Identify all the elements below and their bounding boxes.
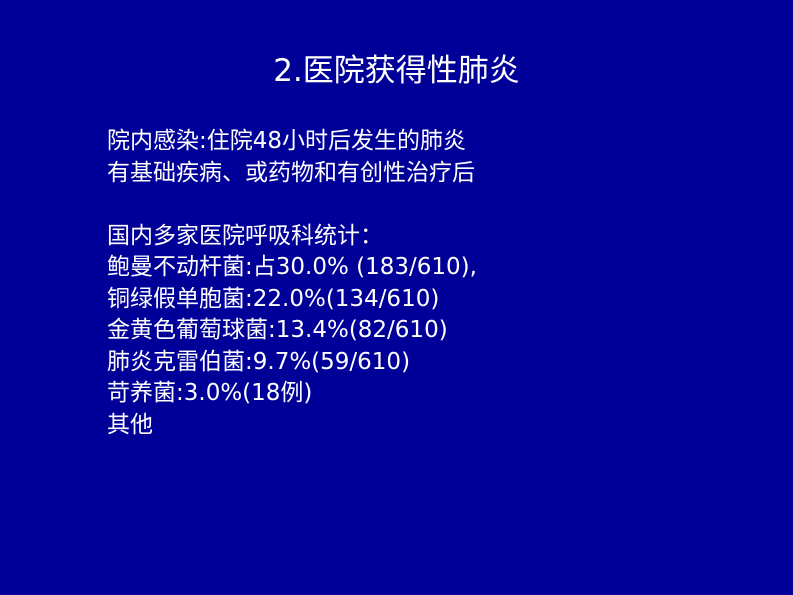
body-line-pathogen-acinetobacter: 鲍曼不动杆菌:占30.0% (183/610),	[107, 252, 707, 284]
body-line-pathogen-other: 其他	[107, 410, 707, 442]
body-line-pathogen-fastidious: 苛养菌:3.0%(18例)	[107, 378, 707, 410]
slide-title: 2.医院获得性肺炎	[0, 52, 793, 90]
body-line-statistics-heading: 国内多家医院呼吸科统计：	[107, 221, 707, 253]
body-line-pathogen-staphylococcus: 金黄色葡萄球菌:13.4%(82/610)	[107, 315, 707, 347]
paragraph-statistics: 国内多家医院呼吸科统计： 鲍曼不动杆菌:占30.0% (183/610), 铜绿…	[107, 221, 707, 442]
slide-body: 院内感染:住院48小时后发生的肺炎 有基础疾病、或药物和有创性治疗后 国内多家医…	[107, 126, 707, 441]
body-line-definition-1: 院内感染:住院48小时后发生的肺炎	[107, 126, 707, 158]
body-line-definition-2: 有基础疾病、或药物和有创性治疗后	[107, 158, 707, 190]
blank-line-spacer	[107, 189, 707, 221]
body-line-pathogen-pseudomonas: 铜绿假单胞菌:22.0%(134/610)	[107, 284, 707, 316]
paragraph-definition: 院内感染:住院48小时后发生的肺炎 有基础疾病、或药物和有创性治疗后	[107, 126, 707, 189]
body-line-pathogen-klebsiella: 肺炎克雷伯菌:9.7%(59/610)	[107, 347, 707, 379]
presentation-slide: 2.医院获得性肺炎 院内感染:住院48小时后发生的肺炎 有基础疾病、或药物和有创…	[0, 0, 793, 595]
